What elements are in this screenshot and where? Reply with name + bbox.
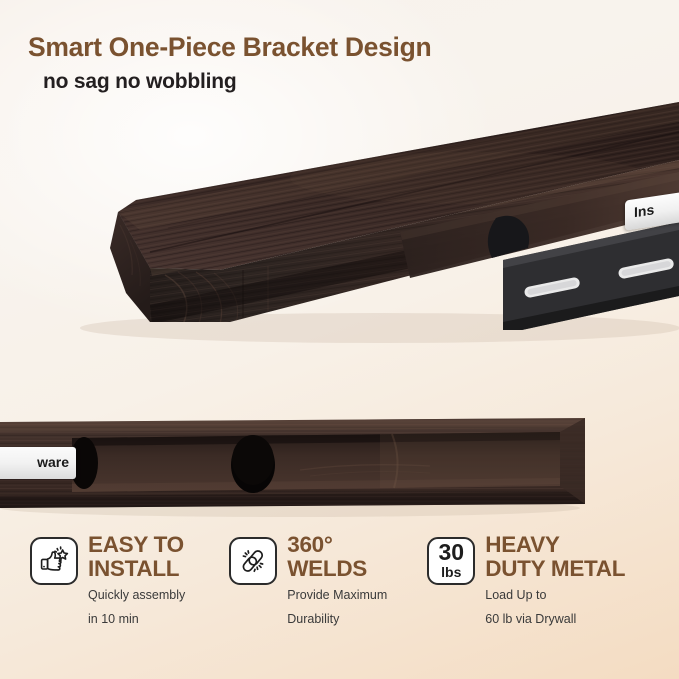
feature-easy-to-install: EASY TO INSTALL Quickly assembly in 10 m…	[30, 533, 185, 643]
feature-sub-line1: Load Up to	[485, 587, 625, 604]
headline-block: Smart One-Piece Bracket Design no sag no…	[28, 32, 431, 94]
feature-row: EASY TO INSTALL Quickly assembly in 10 m…	[0, 533, 679, 643]
upper-shelf-photo	[0, 100, 679, 355]
feature-sub-line2: Durability	[287, 611, 387, 628]
feature-sub-line1: Quickly assembly	[88, 587, 185, 604]
chain-weld-icon	[229, 537, 277, 585]
feature-heavy-duty-metal: 30 lbs HEAVY DUTY METAL Load Up to 60 lb…	[427, 533, 625, 643]
feature-title-line2: DUTY METAL	[485, 557, 625, 581]
weight-badge-icon: 30 lbs	[427, 537, 475, 585]
feature-sub-line2: in 10 min	[88, 611, 185, 628]
feature-title-line1: EASY TO	[88, 533, 185, 557]
feature-title-line1: HEAVY	[485, 533, 625, 557]
feature-360-welds: 360° WELDS Provide Maximum Durability	[229, 533, 387, 643]
weight-badge-number: 30	[438, 542, 464, 564]
feature-title-line2: WELDS	[287, 557, 387, 581]
lower-shelf-label-text: ware	[37, 454, 69, 470]
page-title: Smart One-Piece Bracket Design	[28, 32, 431, 63]
feature-text: EASY TO INSTALL Quickly assembly in 10 m…	[88, 533, 185, 628]
feature-text: HEAVY DUTY METAL Load Up to 60 lb via Dr…	[485, 533, 625, 628]
thumbs-up-star-icon	[30, 537, 78, 585]
feature-text: 360° WELDS Provide Maximum Durability	[287, 533, 387, 628]
lower-shelf-photo	[0, 408, 679, 518]
weight-badge-unit: lbs	[441, 565, 461, 580]
upper-shelf-label-text: Ins	[634, 201, 654, 220]
lower-shelf-label: ware	[0, 447, 76, 479]
feature-title-line2: INSTALL	[88, 557, 185, 581]
feature-title-line1: 360°	[287, 533, 387, 557]
feature-sub-line1: Provide Maximum	[287, 587, 387, 604]
page-subtitle: no sag no wobbling	[43, 70, 431, 94]
feature-sub-line2: 60 lb via Drywall	[485, 611, 625, 628]
weight-badge-inner: 30 lbs	[438, 542, 464, 580]
